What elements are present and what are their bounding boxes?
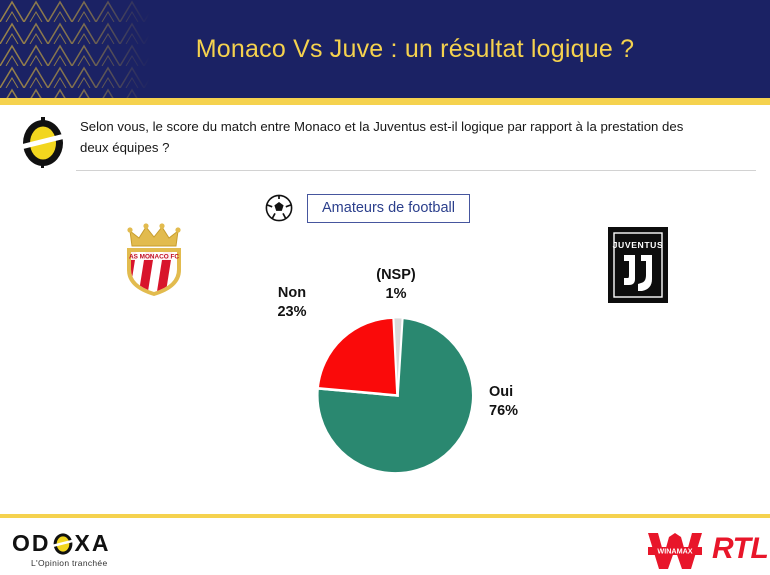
winamax-logo: WINAMAX: [646, 531, 704, 571]
winamax-wordmark: WINAMAX: [657, 546, 692, 555]
odoxa-egg-icon-small: [52, 532, 74, 555]
question-divider: [76, 170, 756, 171]
pie-label-oui-value: 76%: [489, 402, 533, 421]
pie-label-oui-name: Oui: [489, 383, 533, 402]
odoxa-logo: OD XA L'Opinion tranchée: [12, 530, 182, 570]
question-block: Selon vous, le score du match entre Mona…: [0, 105, 770, 175]
category-label-box[interactable]: Amateurs de football: [307, 194, 470, 223]
juventus-crest-icon: JUVENTUS: [608, 227, 668, 303]
pie-label-non: Non 23%: [268, 284, 316, 322]
pie-label-oui: Oui 76%: [489, 383, 533, 421]
pie-label-non-name: Non: [268, 284, 316, 303]
footer-gold-divider: [0, 514, 770, 518]
pie-label-non-value: 23%: [268, 303, 316, 322]
pie-chart: [305, 303, 490, 488]
odoxa-wordmark-part2: XA: [75, 530, 111, 557]
svg-text:AS MONACO FC: AS MONACO FC: [129, 253, 179, 260]
pie-label-nsp-value: 1%: [360, 285, 432, 304]
header-gold-divider: [0, 98, 770, 105]
category-row: Amateurs de football: [265, 193, 470, 223]
odoxa-wordmark-part1: OD: [12, 530, 51, 557]
odoxa-egg-icon: [20, 115, 66, 169]
question-text: Selon vous, le score du match entre Mona…: [80, 116, 710, 158]
soccer-ball-icon: [265, 194, 293, 222]
pie-slice-non: [318, 318, 398, 396]
as-monaco-crest-icon: AS MONACO FC: [120, 222, 188, 298]
pie-label-nsp: (NSP) 1%: [360, 266, 432, 304]
svg-text:JUVENTUS: JUVENTUS: [613, 240, 664, 250]
rtl-logo: RTL: [712, 532, 768, 566]
odoxa-tagline: L'Opinion tranchée: [31, 558, 108, 568]
slide-header: Monaco Vs Juve : un résultat logique ?: [0, 0, 770, 98]
pie-label-nsp-name: (NSP): [360, 266, 432, 285]
odoxa-wordmark: OD XA: [12, 530, 110, 557]
slide-title: Monaco Vs Juve : un résultat logique ?: [0, 0, 770, 98]
